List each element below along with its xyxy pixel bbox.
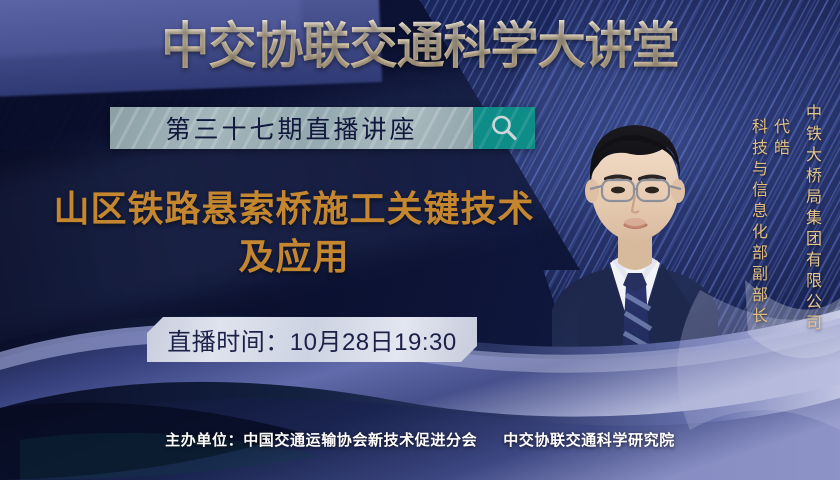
search-input[interactable]: 第三十七期直播讲座 — [110, 107, 473, 149]
search-input-text: 第三十七期直播讲座 — [165, 110, 417, 146]
search-button[interactable] — [473, 107, 535, 149]
page-title: 中交协联交通科学大讲堂 — [17, 17, 823, 75]
speaker-name-and-title: 代皓 科技与信息化部副部长 — [746, 118, 790, 328]
footer-organizers: 主办单位：中国交通运输协会新技术促进分会中交协联交通科学研究院 — [0, 429, 840, 450]
silk-ribbon-decoration — [0, 280, 840, 480]
speaker-title: 科技与信息化部副部长 — [749, 118, 766, 328]
search-icon — [489, 113, 519, 143]
speaker-info: 代皓 科技与信息化部副部长 中铁大桥局集团有限公司 — [746, 104, 822, 335]
lecture-title-line2: 及应用 — [34, 234, 554, 282]
broadcast-time-badge: 直播时间：10月28日19:30 — [147, 317, 477, 362]
footer-label: 主办单位： — [165, 432, 243, 449]
lecture-title-line1: 山区铁路悬索桥施工关键技术 — [53, 189, 534, 230]
footer-org-1: 中国交通运输协会新技术促进分会 — [243, 432, 477, 449]
lecture-title: 山区铁路悬索桥施工关键技术 及应用 — [34, 186, 554, 282]
speaker-organization: 中铁大桥局集团有限公司 — [800, 104, 822, 335]
live-lecture-poster: 中交协联交通科学大讲堂 第三十七期直播讲座 山区铁路悬索桥施工关键技术 及应用 … — [0, 0, 840, 480]
broadcast-time-text: 直播时间：10月28日19:30 — [167, 322, 456, 357]
speaker-name: 代皓 — [771, 118, 788, 160]
episode-search-bar[interactable]: 第三十七期直播讲座 — [110, 107, 535, 149]
footer-org-2: 中交协联交通科学研究院 — [503, 432, 675, 449]
